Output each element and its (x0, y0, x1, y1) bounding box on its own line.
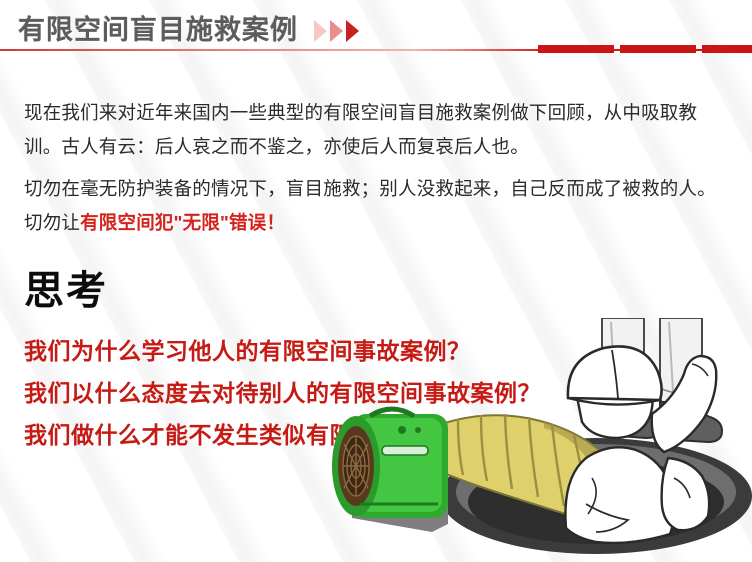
double-chevron-right-icon (314, 20, 380, 48)
slide-root: 有限空间盲目施救案例 现在我们来对近年来国内一些典型的有限空间盲目施救案例做下回… (0, 0, 752, 562)
slide-header: 有限空间盲目施救案例 (0, 0, 752, 58)
header-dash-1 (538, 45, 614, 53)
header-dash-3 (702, 45, 752, 53)
chevron-1-icon (314, 20, 327, 42)
chevron-2-icon (330, 20, 343, 42)
confined-space-ventilation-illustration (330, 318, 752, 562)
body-paragraph-1: 现在我们来对近年来国内一些典型的有限空间盲目施救案例做下回顾，从中吸取教训。古人… (24, 96, 730, 164)
section-heading-think: 思考 (24, 258, 108, 316)
body-paragraph-2: 切勿在毫无防护装备的情况下，盲目施救；别人没救起来，自己反而成了被救的人。 (24, 172, 730, 206)
body-paragraph-3: 切勿让有限空间犯"无限"错误！ (24, 206, 730, 240)
body-paragraph-3-highlight: 有限空间犯"无限"错误！ (80, 212, 285, 233)
green-ventilation-blower (332, 409, 448, 532)
body-paragraph-3-prefix: 切勿让 (24, 212, 80, 233)
header-dash-2 (620, 45, 696, 53)
chevron-3-icon (346, 20, 359, 42)
body-text-block: 现在我们来对近年来国内一些典型的有限空间盲目施救案例做下回顾，从中吸取教训。古人… (24, 96, 730, 240)
page-title: 有限空间盲目施救案例 (18, 8, 298, 47)
